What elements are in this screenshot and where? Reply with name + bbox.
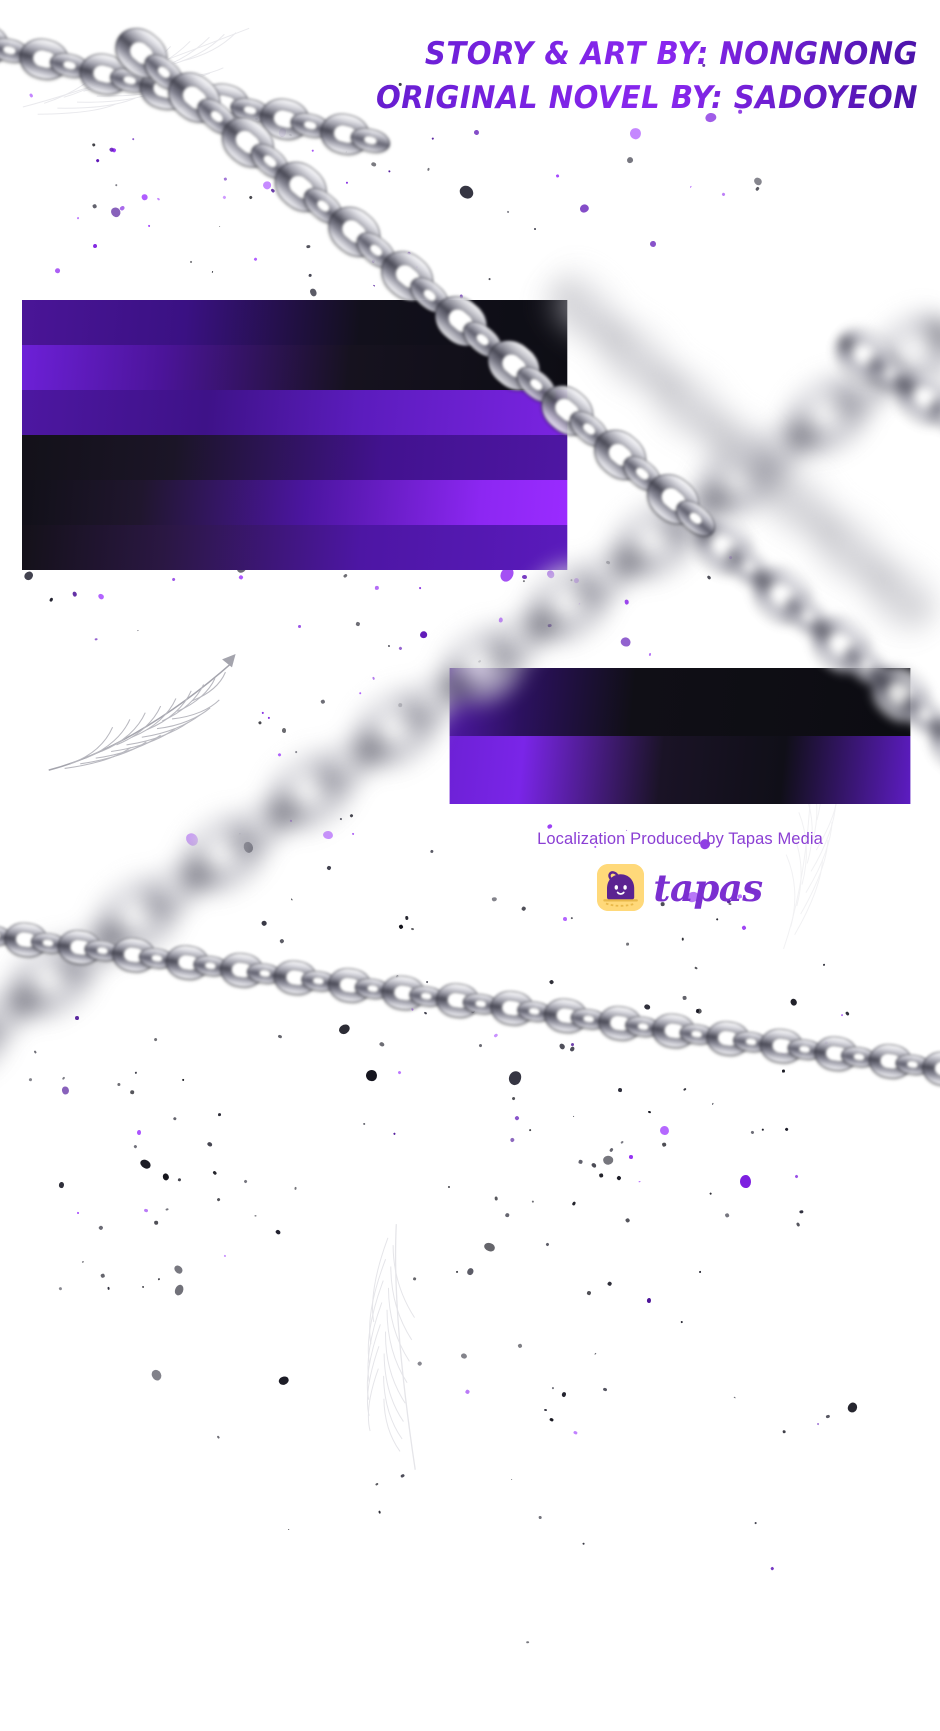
original-novel-credit: ORIGINAL NOVEL BY: SADOYEON [55, 76, 918, 120]
primary-qc-name: ELYSHA DEOCAMPO. [22, 435, 567, 480]
localization-note: Localization Produced by Tapas Media [440, 830, 920, 849]
credits-page: STORY & ART BY: NONGNONG ORIGINAL NOVEL … [0, 0, 940, 1731]
staff-credits-block: TRANSLATION: JAY KIM TYPESETTING: ANDREA… [22, 300, 596, 570]
tapas-blob-character-icon [597, 864, 644, 911]
story-art-credit: STORY & ART BY: NONGNONG [55, 32, 918, 76]
tapas-logo-lockup[interactable]: tapas [440, 864, 920, 911]
secondary-qc-name: BARBRA RAMOS [22, 525, 567, 570]
text-layer: STORY & ART BY: NONGNONG ORIGINAL NOVEL … [0, 0, 940, 1731]
primary-qc-label: PRIMARY QUALITY CONTROL: [22, 390, 567, 435]
typesetting-credit: TYPESETTING: ANDREA A. [22, 345, 567, 390]
secondary-qc-label: SECONDARY QUALITY CONTROL: [22, 480, 567, 525]
episode-name-line: SUCCESSION [450, 736, 911, 804]
episode-title-block: EPISODE 41: SUCCESSION [440, 668, 920, 804]
top-credits-block: STORY & ART BY: NONGNONG ORIGINAL NOVEL … [0, 32, 918, 120]
episode-number-line: EPISODE 41: [450, 668, 911, 736]
tapas-wordmark: tapas [653, 868, 762, 908]
translation-credit: TRANSLATION: JAY KIM [22, 300, 567, 345]
